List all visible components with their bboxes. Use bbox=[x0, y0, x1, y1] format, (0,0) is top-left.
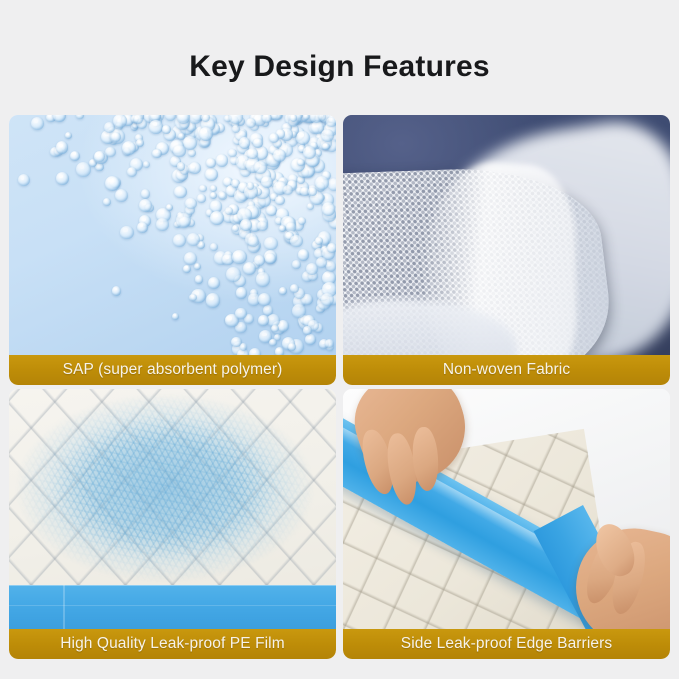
sap-bead bbox=[65, 132, 72, 139]
sap-bead bbox=[326, 261, 336, 272]
sap-bead bbox=[264, 237, 278, 251]
pe-film-photo bbox=[9, 389, 336, 629]
sap-bead bbox=[210, 211, 224, 225]
sap-bead bbox=[76, 115, 83, 119]
feature-card-pe-film[interactable]: High Quality Leak-proof PE Film bbox=[9, 389, 336, 659]
sap-bead bbox=[319, 115, 327, 121]
sap-bead bbox=[249, 348, 261, 355]
sap-bead bbox=[298, 217, 306, 225]
sap-bead bbox=[283, 185, 293, 195]
sap-bead bbox=[235, 308, 246, 319]
sap-bead bbox=[288, 343, 296, 351]
sap-bead bbox=[112, 286, 121, 295]
sap-bead bbox=[136, 139, 144, 147]
caption-edge-barriers: Side Leak-proof Edge Barriers bbox=[343, 629, 670, 659]
sap-bead-field bbox=[9, 115, 336, 355]
sap-bead bbox=[261, 176, 273, 188]
sap-bead bbox=[322, 143, 330, 151]
sap-bead bbox=[173, 145, 185, 157]
sap-bead bbox=[328, 178, 336, 190]
sap-bead bbox=[199, 127, 213, 141]
sap-bead bbox=[56, 172, 69, 185]
sap-bead bbox=[297, 159, 304, 166]
caption-sap: SAP (super absorbent polymer) bbox=[9, 355, 336, 385]
sap-bead bbox=[111, 132, 121, 142]
sap-bead bbox=[226, 267, 241, 282]
sap-bead bbox=[208, 277, 220, 289]
sap-bead bbox=[303, 326, 312, 335]
sap-bead bbox=[265, 253, 276, 264]
sap-bead bbox=[216, 154, 228, 166]
sap-bead bbox=[257, 221, 268, 232]
sap-bead bbox=[187, 233, 200, 246]
sap-bead bbox=[308, 187, 317, 196]
sap-bead bbox=[210, 185, 217, 192]
sap-bead bbox=[256, 272, 270, 286]
sap-bead bbox=[115, 189, 128, 202]
feature-grid: SAP (super absorbent polymer) Non-woven … bbox=[9, 115, 670, 666]
pe-film-seam bbox=[63, 585, 65, 629]
feature-card-sap[interactable]: SAP (super absorbent polymer) bbox=[9, 115, 336, 385]
sap-bead bbox=[199, 185, 207, 193]
sap-bead bbox=[177, 162, 185, 170]
sap-bead bbox=[152, 149, 161, 158]
sap-bead bbox=[185, 198, 196, 209]
sap-bead bbox=[219, 192, 226, 199]
sap-bead bbox=[228, 149, 236, 157]
sap-bead bbox=[195, 275, 203, 283]
sap-bead bbox=[206, 158, 216, 168]
sap-bead bbox=[210, 243, 218, 251]
sap-bead bbox=[127, 167, 137, 177]
sap-bead bbox=[166, 204, 173, 211]
sap-bead bbox=[247, 182, 255, 190]
sap-bead bbox=[172, 313, 180, 321]
feature-card-edge-barriers[interactable]: Side Leak-proof Edge Barriers bbox=[343, 389, 670, 659]
sap-bead bbox=[232, 250, 247, 265]
non-woven-photo bbox=[343, 115, 670, 355]
sap-bead bbox=[31, 117, 44, 130]
sap-bead bbox=[275, 347, 284, 355]
sap-bead bbox=[206, 293, 220, 307]
sap-photo bbox=[9, 115, 336, 355]
sap-bead bbox=[56, 141, 68, 153]
sap-bead bbox=[70, 151, 80, 161]
sap-bead bbox=[94, 151, 104, 161]
sap-bead bbox=[321, 129, 334, 142]
sap-bead bbox=[53, 115, 66, 122]
sap-bead bbox=[103, 198, 111, 206]
sap-bead bbox=[137, 222, 147, 232]
sap-bead bbox=[149, 120, 163, 134]
sap-bead bbox=[296, 131, 310, 145]
sap-bead bbox=[322, 202, 335, 215]
sap-bead bbox=[271, 115, 282, 120]
sap-bead bbox=[183, 265, 191, 273]
sap-bead bbox=[141, 189, 151, 199]
sap-bead bbox=[120, 226, 134, 240]
sap-bead bbox=[205, 168, 218, 181]
sap-bead bbox=[315, 176, 329, 190]
sap-bead bbox=[210, 192, 217, 199]
sap-bead bbox=[176, 213, 190, 227]
edge-barriers-photo bbox=[343, 389, 670, 629]
sap-bead bbox=[273, 149, 286, 162]
sap-bead bbox=[254, 255, 265, 266]
sap-bead bbox=[271, 325, 279, 333]
sap-bead bbox=[189, 162, 201, 174]
sap-bead bbox=[134, 115, 143, 124]
sap-bead bbox=[246, 118, 256, 128]
sap-bead bbox=[18, 174, 30, 186]
sap-bead bbox=[290, 115, 297, 122]
sap-bead bbox=[194, 263, 201, 270]
feature-card-non-woven-fabric[interactable]: Non-woven Fabric bbox=[343, 115, 670, 385]
sap-bead bbox=[243, 262, 256, 275]
infographic-page: Key Design Features SAP (super absorbent… bbox=[0, 0, 679, 679]
sap-bead bbox=[326, 117, 336, 127]
sap-bead bbox=[143, 161, 150, 168]
sap-bead bbox=[254, 161, 267, 174]
sap-bead bbox=[275, 196, 284, 205]
sap-bead bbox=[236, 287, 247, 298]
sap-bead bbox=[173, 234, 186, 247]
sap-bead bbox=[113, 115, 128, 128]
sap-bead bbox=[105, 176, 120, 191]
sap-bead bbox=[174, 186, 187, 199]
sap-bead bbox=[298, 249, 310, 261]
sap-bead bbox=[258, 293, 271, 306]
caption-pe-film: High Quality Leak-proof PE Film bbox=[9, 629, 336, 659]
sap-bead bbox=[290, 284, 299, 293]
pe-film-backing-strip bbox=[9, 585, 336, 629]
sap-bead bbox=[305, 334, 316, 345]
sap-bead bbox=[105, 147, 116, 158]
sap-bead bbox=[269, 339, 276, 346]
sap-bead bbox=[279, 287, 287, 295]
caption-non-woven-fabric: Non-woven Fabric bbox=[343, 355, 670, 385]
sap-bead bbox=[247, 148, 258, 159]
sap-bead bbox=[240, 219, 252, 231]
sap-bead bbox=[258, 315, 268, 325]
sap-bead bbox=[139, 199, 152, 212]
pe-film-core-fiber-texture bbox=[15, 393, 315, 583]
sap-bead bbox=[303, 146, 316, 159]
sap-bead bbox=[197, 194, 205, 202]
sap-bead bbox=[239, 137, 250, 148]
pe-film-crease bbox=[9, 605, 336, 606]
sap-bead bbox=[327, 243, 336, 252]
page-title: Key Design Features bbox=[0, 50, 679, 84]
sap-bead bbox=[156, 218, 169, 231]
sap-bead bbox=[290, 235, 303, 248]
sap-bead bbox=[122, 141, 136, 155]
sap-bead bbox=[292, 260, 301, 269]
